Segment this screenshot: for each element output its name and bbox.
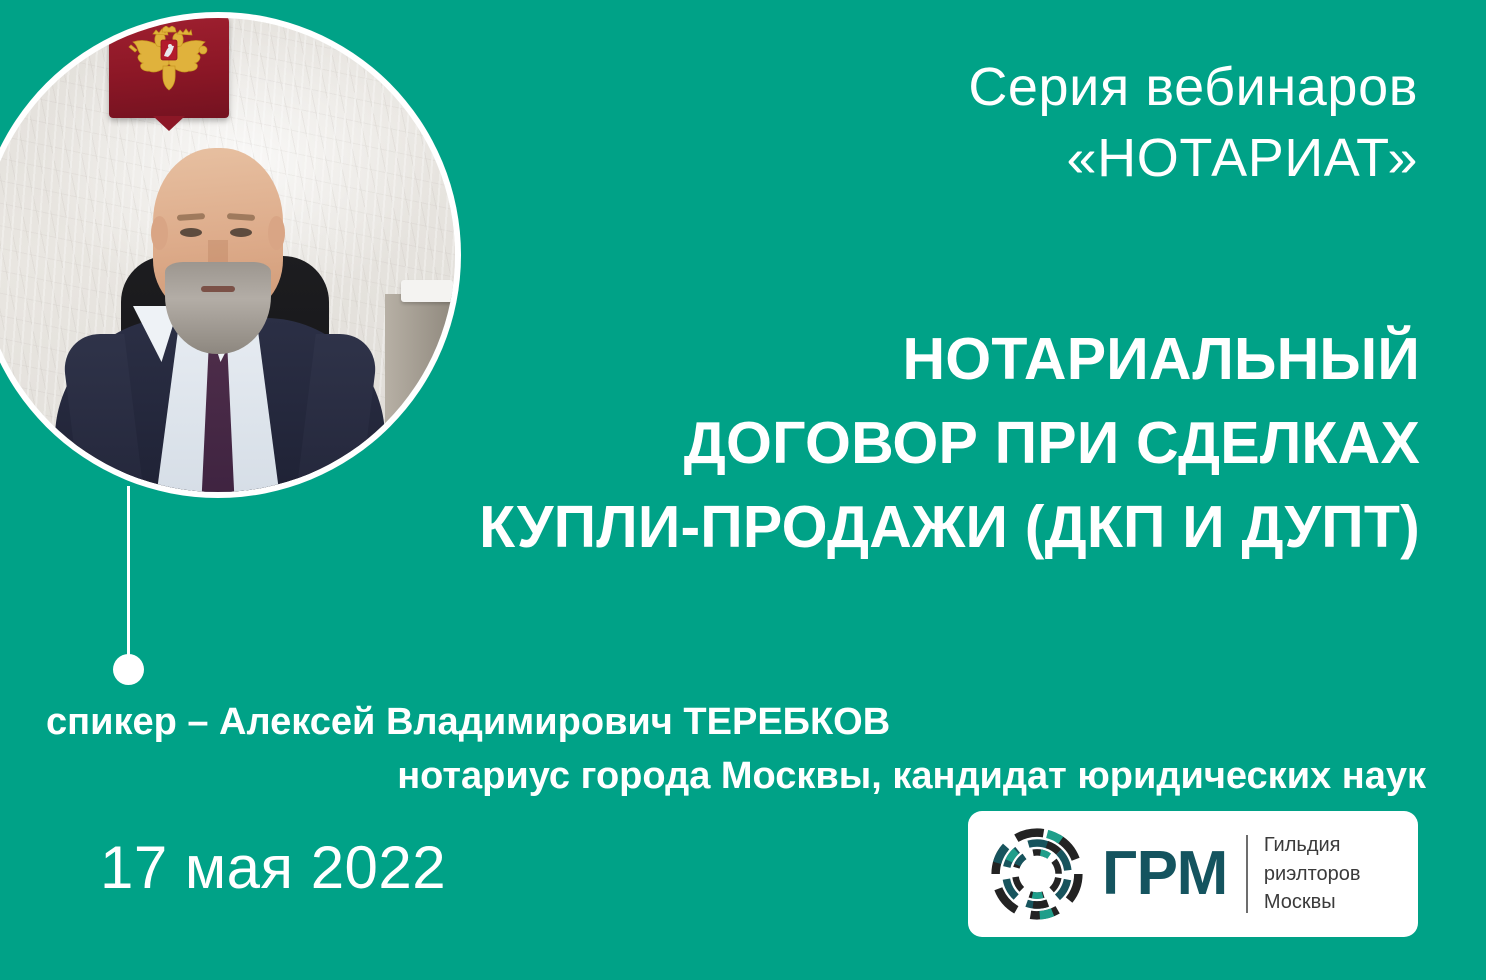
speaker-info: спикер – Алексей Владимирович ТЕРЕБКОВ н… <box>46 696 1426 804</box>
logo-divider <box>1246 835 1248 913</box>
portrait-photo <box>0 18 455 492</box>
title-line-3: КУПЛИ-ПРОДАЖИ (ДКП И ДУПТ) <box>220 486 1420 570</box>
portrait-pointer-dot <box>113 654 144 685</box>
series-line-2: «НОТАРИАТ» <box>598 123 1418 194</box>
grm-name-line-1: Гильдия <box>1264 831 1361 859</box>
ear-left <box>151 216 168 250</box>
grm-logo-card[interactable]: ГРМ Гильдия риэлторов Москвы <box>968 811 1418 937</box>
webinar-announcement-slide: Серия вебинаров «НОТАРИАТ» НОТАРИАЛЬНЫЙ … <box>0 0 1486 980</box>
portrait-pointer-line <box>127 486 130 658</box>
office-desk-item <box>401 280 453 302</box>
webinar-series-heading: Серия вебинаров «НОТАРИАТ» <box>598 52 1418 195</box>
double-headed-eagle-icon <box>123 26 215 98</box>
office-cabinet <box>385 294 455 492</box>
speaker-name: спикер – Алексей Владимирович ТЕРЕБКОВ <box>46 696 1426 750</box>
grm-full-name: Гильдия риэлторов Москвы <box>1264 831 1361 916</box>
speaker-portrait <box>0 12 461 498</box>
grm-circular-mark-icon <box>990 827 1084 921</box>
grm-name-line-2: риэлторов <box>1264 860 1361 888</box>
russian-coat-of-arms-icon <box>109 18 229 118</box>
series-line-1: Серия вебинаров <box>598 52 1418 123</box>
speaker-credentials: нотариус города Москвы, кандидат юридиче… <box>46 750 1426 804</box>
ear-right <box>268 216 285 250</box>
grm-wordmark: ГРМ <box>1102 843 1228 905</box>
event-date: 17 мая 2022 <box>100 833 446 902</box>
grm-name-line-3: Москвы <box>1264 888 1361 916</box>
mouth <box>201 286 235 292</box>
eye-left <box>180 228 202 237</box>
eye-right <box>230 228 252 237</box>
